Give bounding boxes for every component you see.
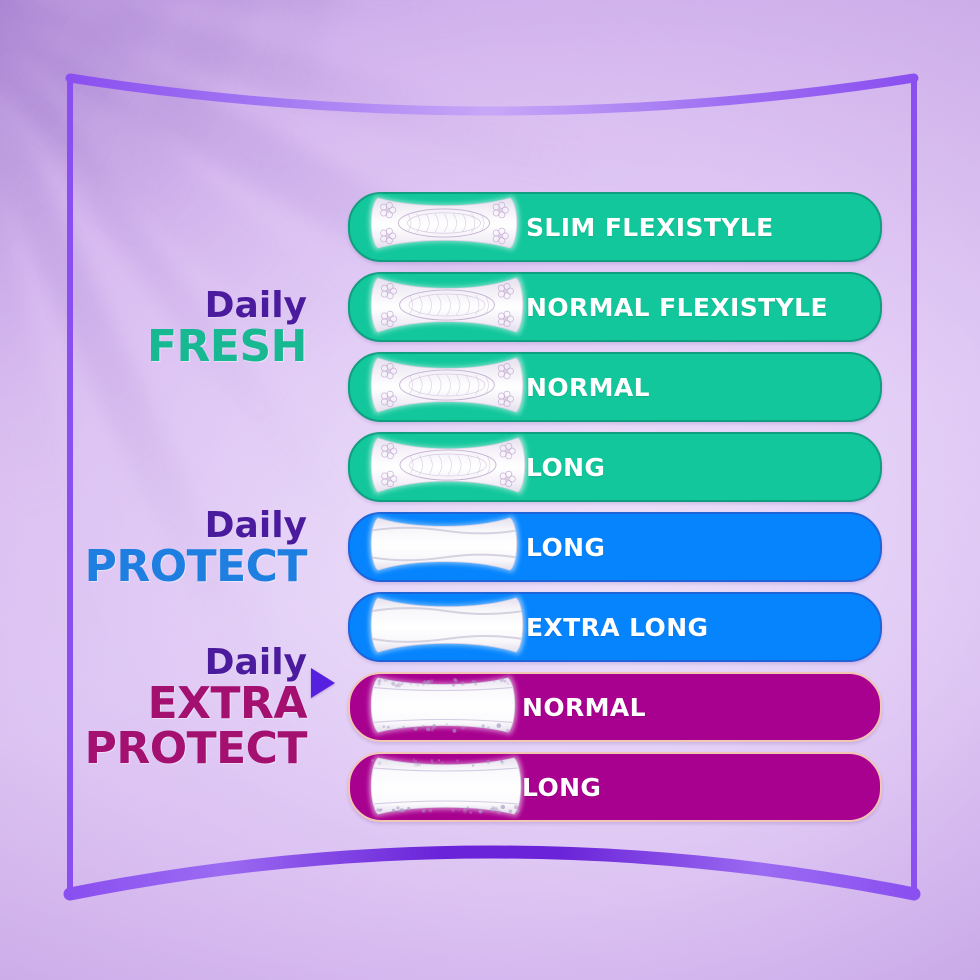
product-row-label: NORMAL: [522, 693, 646, 722]
poster-canvas: Daily FRESH Daily PROTECT Daily EXTRA PR…: [0, 0, 980, 980]
product-row-label: LONG: [522, 773, 601, 802]
pad-illustration: [368, 756, 524, 818]
group-label-protect-top: Daily: [85, 508, 307, 545]
pad-illustration: [368, 596, 526, 658]
product-row-label: EXTRA LONG: [526, 613, 708, 642]
group-label-extra-protect-top: Daily: [85, 645, 307, 682]
group-label-fresh-bottom: FRESH: [147, 325, 307, 370]
group-label-protect: Daily PROTECT: [85, 508, 307, 590]
product-row-list: SLIM FLEXISTYLENORMAL FLEXISTYLENORMALLO…: [348, 192, 882, 832]
product-row-label: NORMAL: [526, 373, 650, 402]
product-row[interactable]: NORMAL: [348, 352, 882, 422]
product-row-label: SLIM FLEXISTYLE: [526, 213, 774, 242]
group-label-extra-protect-line2: PROTECT: [85, 727, 307, 772]
product-row-label: NORMAL FLEXISTYLE: [526, 293, 828, 322]
product-row[interactable]: EXTRA LONG: [348, 592, 882, 662]
product-row[interactable]: SLIM FLEXISTYLE: [348, 192, 882, 262]
group-label-fresh: Daily FRESH: [147, 288, 307, 370]
group-label-fresh-top: Daily: [147, 288, 307, 325]
pad-illustration: [368, 356, 526, 418]
product-row-label: LONG: [526, 453, 605, 482]
pad-illustration: [368, 516, 520, 578]
product-row[interactable]: NORMAL: [348, 672, 882, 742]
pad-illustration: [368, 196, 520, 258]
group-label-protect-bottom: PROTECT: [85, 545, 307, 590]
product-row-label: LONG: [526, 533, 605, 562]
product-row[interactable]: LONG: [348, 752, 882, 822]
pad-illustration: [368, 676, 518, 738]
triangle-right-icon: [311, 668, 335, 698]
pad-illustration: [368, 436, 528, 498]
group-label-extra-protect-line1: EXTRA: [85, 682, 307, 727]
product-row[interactable]: LONG: [348, 432, 882, 502]
group-label-extra-protect: Daily EXTRA PROTECT: [85, 645, 307, 771]
pad-illustration: [368, 276, 526, 338]
product-row[interactable]: NORMAL FLEXISTYLE: [348, 272, 882, 342]
product-row[interactable]: LONG: [348, 512, 882, 582]
